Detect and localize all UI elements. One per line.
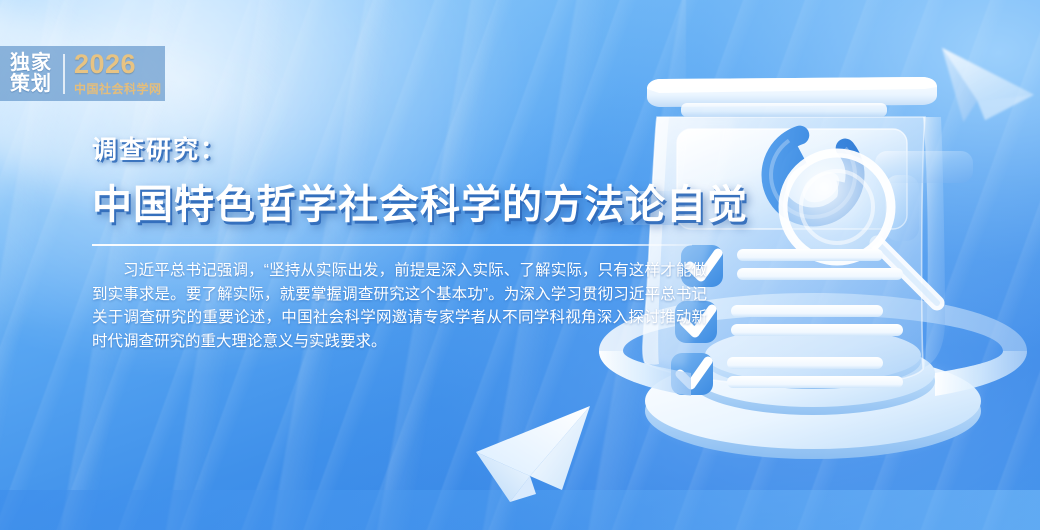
badge-year-group: 2026 中国社会科学网 xyxy=(74,51,162,97)
title-divider xyxy=(92,244,692,246)
body-paragraph: 习近平总书记强调，“坚持从实际出发，前提是深入实际、了解实际，只有这样才能做到实… xyxy=(92,259,707,353)
kicker-text: 调查研究： xyxy=(92,130,707,166)
text-block: 调查研究： 中国特色哲学社会科学的方法论自觉 习近平总书记强调，“坚持从实际出发… xyxy=(92,130,707,353)
banner-root: 独家 策划 2026 中国社会科学网 调查研究： 中国特色哲学社会科学的方法论自… xyxy=(0,0,1040,530)
badge-year: 2026 xyxy=(74,51,162,78)
paper-plane-top-right-icon xyxy=(934,26,1040,138)
exclusive-plan-badge: 独家 策划 2026 中国社会科学网 xyxy=(0,46,165,101)
page-title: 中国特色哲学社会科学的方法论自觉 xyxy=(92,172,707,230)
badge-site-name: 中国社会科学网 xyxy=(74,80,162,97)
paper-plane-bottom-left-icon xyxy=(470,398,602,516)
badge-line-1: 独家 xyxy=(10,53,52,73)
badge-line-2: 策划 xyxy=(10,74,52,94)
clipboard-clip xyxy=(647,77,937,117)
badge-label-group: 独家 策划 xyxy=(10,53,52,94)
badge-divider xyxy=(63,54,65,94)
